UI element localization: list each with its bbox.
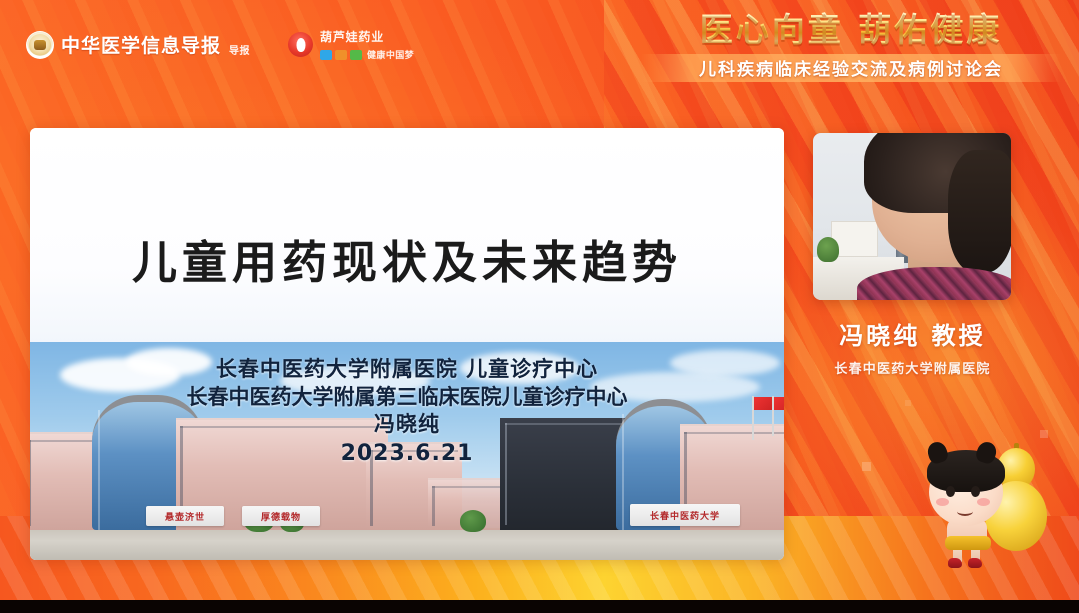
gourd-circle-icon — [288, 32, 313, 57]
mascot-blush-left — [936, 498, 949, 506]
calabash-boy-mascot-icon — [915, 440, 1055, 570]
mascot-eye-left — [946, 486, 955, 497]
slide-caption-line3: 冯晓纯 — [30, 411, 784, 439]
logo-sponsor: 葫芦娃药业 健康中国梦 — [288, 28, 414, 61]
broadcast-screen: 中华医学信息导报 导报 葫芦娃药业 健康中国梦 医心向童 葫佑健康 儿科疾病临床… — [0, 0, 1079, 613]
event-subtitle: 儿科疾病临床经验交流及病例讨论会 — [699, 55, 1003, 80]
header-logo-row: 中华医学信息导报 导报 葫芦娃药业 健康中国梦 — [26, 28, 414, 61]
webcam-plant — [817, 237, 839, 262]
blue-chip-icon — [320, 50, 332, 60]
event-subtitle-band: 儿科疾病临床经验交流及病例讨论会 — [641, 54, 1061, 82]
photo-road — [30, 528, 784, 560]
slide-caption-block: 长春中医药大学附属医院 儿童诊疗中心 长春中医药大学附属第三临床医院儿童诊疗中心… — [30, 356, 784, 470]
logo-cma-wordmark: 中华医学信息导报 — [61, 31, 221, 58]
slide-caption-line2: 长春中医药大学附属第三临床医院儿童诊疗中心 — [30, 384, 784, 412]
photo-sign-right: 厚德载物 — [242, 506, 320, 526]
mascot-shoe-right — [968, 558, 982, 568]
slide-caption-date: 2023.6.21 — [30, 439, 784, 469]
speaker-webcam-feed[interactable] — [813, 133, 1011, 300]
speaker-info-block: 冯晓纯 教授 长春中医药大学附属医院 — [800, 316, 1025, 377]
logo-sponsor-line1: 葫芦娃药业 — [320, 28, 414, 45]
photo-gate-sign: 长春中医药大学 — [630, 504, 740, 526]
mascot-blush-right — [977, 498, 990, 506]
photo-sign-left: 悬壶济世 — [146, 506, 224, 526]
logo-sponsor-line2-row: 健康中国梦 — [320, 48, 414, 61]
logo-cma-journal: 中华医学信息导报 导报 — [26, 31, 250, 59]
mascot-mouth — [957, 507, 973, 516]
mascot-leaf-skirt — [945, 536, 991, 550]
event-title-block: 医心向童 葫佑健康 儿科疾病临床经验交流及病例讨论会 — [641, 12, 1061, 82]
mascot-eye-right — [971, 486, 980, 497]
logo-sponsor-text: 葫芦娃药业 健康中国梦 — [320, 28, 414, 61]
medal-emblem-icon — [26, 31, 54, 59]
orange-chip-icon — [335, 50, 347, 60]
speaker-organization: 长春中医药大学附属医院 — [800, 358, 1025, 377]
logo-sponsor-line2-label: 健康中国梦 — [367, 48, 414, 61]
speaker-name: 冯晓纯 教授 — [800, 316, 1025, 351]
mascot-shoe-left — [948, 558, 962, 568]
green-chip-icon — [350, 50, 362, 60]
presentation-slide[interactable]: 儿童用药现状及未来趋势 — [30, 128, 784, 560]
event-title: 医心向童 葫佑健康 — [641, 12, 1061, 49]
webcam-person-hair-side — [948, 150, 1011, 274]
slide-title: 儿童用药现状及未来趋势 — [30, 226, 784, 291]
slide-caption-line1: 长春中医药大学附属医院 儿童诊疗中心 — [30, 356, 784, 384]
letterbox-bar — [0, 600, 1079, 613]
logo-cma-suffix: 导报 — [229, 42, 250, 59]
